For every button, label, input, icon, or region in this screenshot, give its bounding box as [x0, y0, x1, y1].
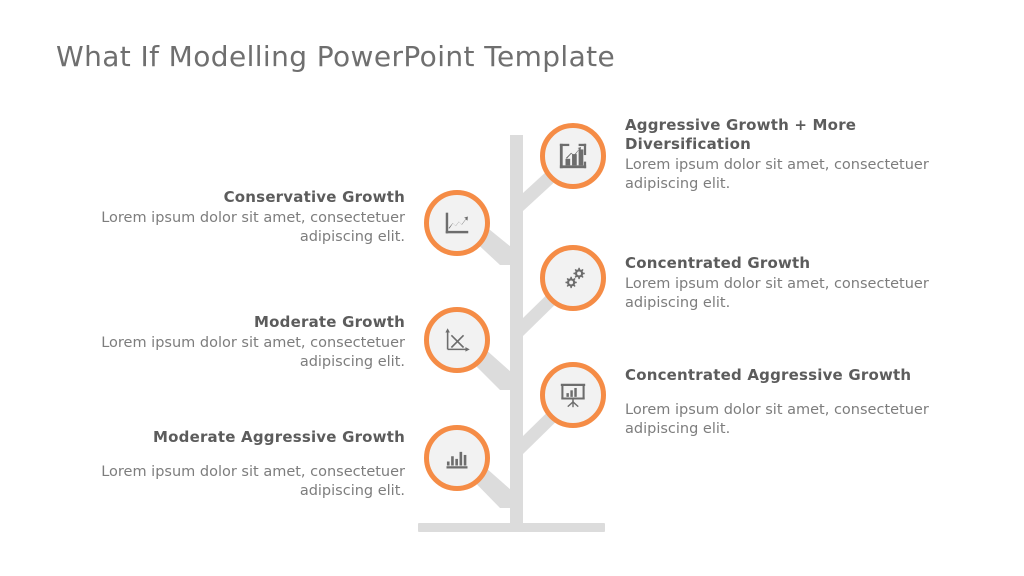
body-text: Lorem ipsum dolor sit amet, consectetuer…	[80, 209, 405, 247]
body-text: Lorem ipsum dolor sit amet, consectetuer…	[625, 401, 950, 439]
heading: Moderate Growth	[80, 313, 405, 332]
heading: Aggressive Growth + More Diversification	[625, 116, 947, 154]
heading: Moderate Aggressive Growth	[80, 428, 405, 447]
node-concentrated-aggressive-growth[interactable]	[540, 362, 606, 428]
node-moderate-growth[interactable]	[424, 307, 490, 373]
text-block-concentrated-growth: Concentrated Growth Lorem ipsum dolor si…	[625, 254, 947, 313]
body-text: Lorem ipsum dolor sit amet, consectetuer…	[625, 156, 947, 194]
body-text: Lorem ipsum dolor sit amet, consectetuer…	[625, 275, 947, 313]
body-text: Lorem ipsum dolor sit amet, consectetuer…	[80, 463, 405, 501]
text-block-aggressive-growth-more-diversification: Aggressive Growth + More Diversification…	[625, 116, 947, 194]
page-title: What If Modelling PowerPoint Template	[56, 40, 615, 73]
bar-chart-icon	[443, 444, 471, 472]
node-aggressive-growth-more-diversification[interactable]	[540, 123, 606, 189]
gears-icon	[559, 264, 587, 292]
heading: Conservative Growth	[80, 188, 405, 207]
heading: Concentrated Aggressive Growth	[625, 366, 950, 385]
text-block-moderate-growth: Moderate Growth Lorem ipsum dolor sit am…	[80, 313, 405, 372]
node-concentrated-growth[interactable]	[540, 245, 606, 311]
node-conservative-growth[interactable]	[424, 190, 490, 256]
tree-trunk	[510, 135, 523, 527]
supply-demand-cross-chart-icon	[442, 325, 472, 355]
slide-canvas: What If Modelling PowerPoint Template	[0, 0, 1024, 576]
text-block-concentrated-aggressive-growth: Concentrated Aggressive Growth Lorem ips…	[625, 366, 950, 439]
node-moderate-aggressive-growth[interactable]	[424, 425, 490, 491]
tree-base	[418, 523, 605, 532]
text-block-conservative-growth: Conservative Growth Lorem ipsum dolor si…	[80, 188, 405, 247]
presentation-board-chart-icon	[558, 380, 588, 410]
bar-chart-arrow-framed-icon	[558, 141, 588, 171]
line-chart-arrow-icon	[442, 208, 472, 238]
text-block-moderate-aggressive-growth: Moderate Aggressive Growth Lorem ipsum d…	[80, 428, 405, 501]
heading: Concentrated Growth	[625, 254, 947, 273]
body-text: Lorem ipsum dolor sit amet, consectetuer…	[80, 334, 405, 372]
